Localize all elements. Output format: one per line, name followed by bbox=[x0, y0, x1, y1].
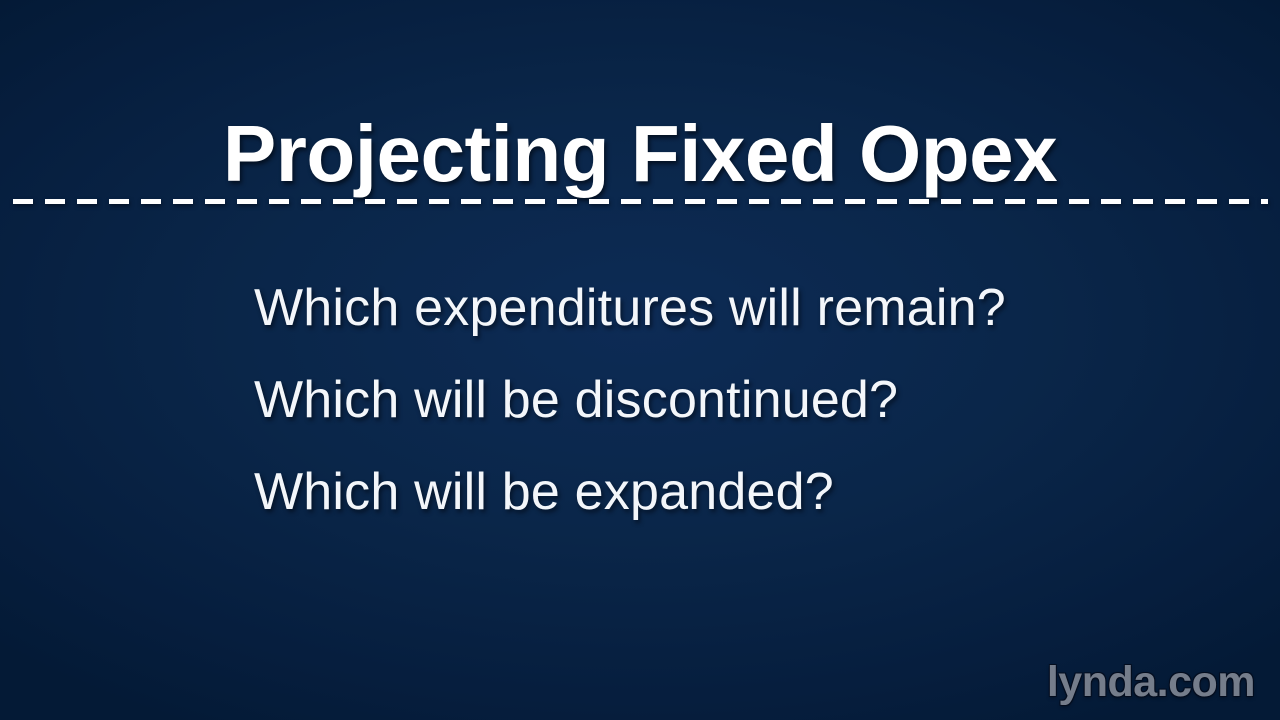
page-title: Projecting Fixed Opex bbox=[0, 112, 1280, 196]
list-item: Which will be expanded? bbox=[254, 446, 1234, 538]
bullet-list: Which expenditures will remain? Which wi… bbox=[254, 262, 1234, 538]
list-item: Which expenditures will remain? bbox=[254, 262, 1234, 354]
dashed-divider bbox=[13, 199, 1268, 204]
list-item: Which will be discontinued? bbox=[254, 354, 1234, 446]
presentation-slide: Projecting Fixed Opex Which expenditures… bbox=[0, 0, 1280, 720]
lynda-watermark: lynda.com bbox=[1047, 658, 1255, 707]
